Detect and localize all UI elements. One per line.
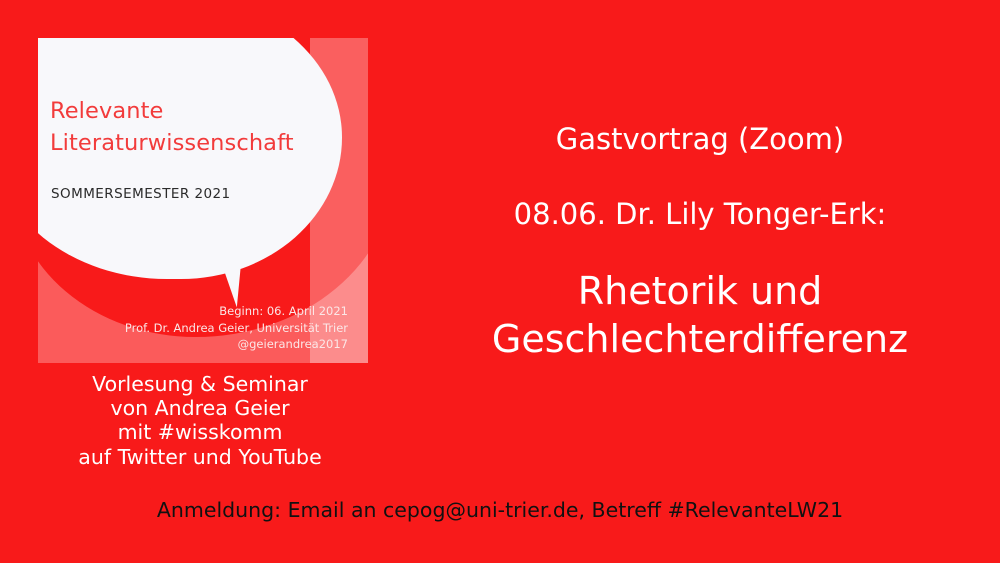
course-poster-image: Relevante Literaturwissenschaft SOMMERSE…: [38, 38, 368, 363]
right-column: Gastvortrag (Zoom) 08.06. Dr. Lily Tonge…: [400, 0, 1000, 563]
poster-caption-line-2: von Andrea Geier: [0, 396, 400, 420]
talk-title: Rhetorik und Geschlechterdifferenz: [400, 268, 1000, 363]
lecture-announcement-slide: Relevante Literaturwissenschaft SOMMERSE…: [0, 0, 1000, 563]
poster-credit-handle: @geierandrea2017: [125, 336, 348, 353]
poster-credit-lecturer: Prof. Dr. Andrea Geier, Universität Trie…: [125, 320, 348, 337]
poster-credit-start-date: Beginn: 06. April 2021: [125, 303, 348, 320]
talk-date-and-speaker: 08.06. Dr. Lily Tonger-Erk:: [400, 197, 1000, 231]
poster-caption-line-4: auf Twitter und YouTube: [0, 445, 400, 469]
talk-kind: Gastvortrag (Zoom): [400, 122, 1000, 156]
registration-note: Anmeldung: Email an cepog@uni-trier.de, …: [0, 498, 1000, 522]
poster-subtitle: SOMMERSEMESTER 2021: [51, 186, 231, 202]
poster-title: Relevante Literaturwissenschaft: [50, 96, 340, 160]
poster-caption: Vorlesung & Seminar von Andrea Geier mit…: [0, 372, 400, 469]
poster-caption-line-1: Vorlesung & Seminar: [0, 372, 400, 396]
talk-title-line-1: Rhetorik und: [400, 268, 1000, 316]
poster-title-line-1: Relevante: [50, 96, 340, 128]
poster-title-line-2: Literaturwissenschaft: [50, 128, 340, 160]
left-column: Relevante Literaturwissenschaft SOMMERSE…: [0, 0, 400, 563]
poster-credits: Beginn: 06. April 2021 Prof. Dr. Andrea …: [125, 303, 348, 353]
poster-caption-line-3: mit #wisskomm: [0, 420, 400, 444]
talk-title-line-2: Geschlechterdifferenz: [400, 316, 1000, 364]
